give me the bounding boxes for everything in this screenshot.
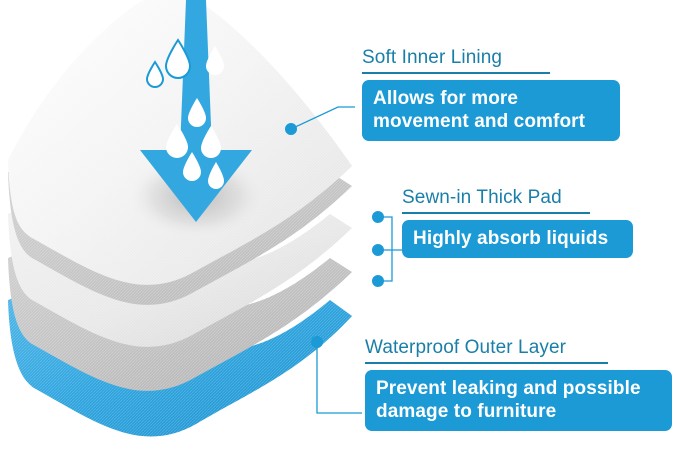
callout-underline <box>362 72 550 74</box>
callout-soft-inner-lining: Soft Inner Lining Allows for more moveme… <box>362 46 620 141</box>
infographic-canvas: Soft Inner Lining Allows for more moveme… <box>0 0 679 455</box>
callout-sewn-in-thick-pad: Sewn-in Thick Pad Highly absorb liquids <box>402 186 633 258</box>
callout-waterproof-outer-layer: Waterproof Outer Layer Prevent leaking a… <box>365 336 672 431</box>
callout-body-box: Allows for more movement and comfort <box>362 80 620 141</box>
callout-body-box: Highly absorb liquids <box>402 220 633 258</box>
callout-underline <box>402 212 590 214</box>
callout-heading: Waterproof Outer Layer <box>365 336 672 359</box>
callout-heading: Sewn-in Thick Pad <box>402 186 633 209</box>
product-illustration <box>0 0 400 455</box>
callout-body-box: Prevent leaking and possible damage to f… <box>365 370 672 431</box>
callout-heading: Soft Inner Lining <box>362 46 620 69</box>
callout-underline <box>365 362 608 364</box>
